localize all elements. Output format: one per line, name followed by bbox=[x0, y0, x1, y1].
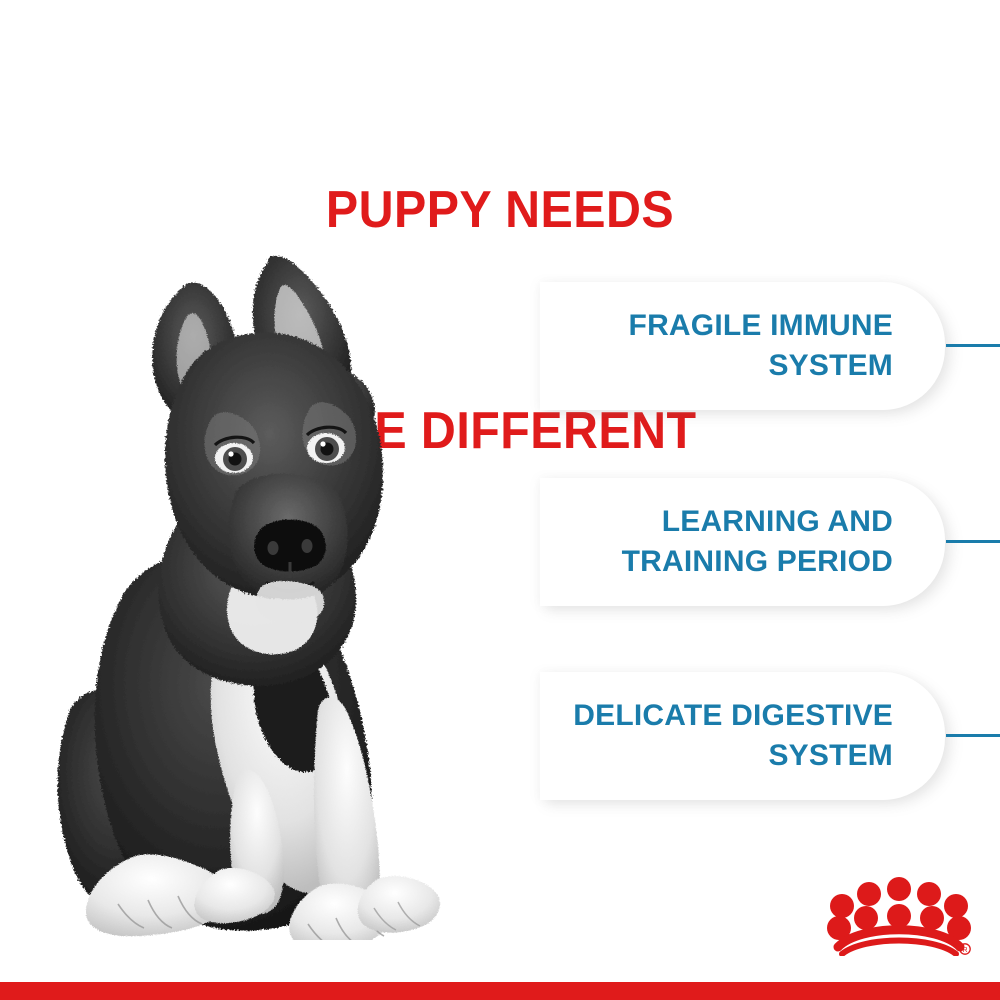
puppy-photo bbox=[30, 240, 480, 940]
benefit-connector-line-2 bbox=[946, 540, 1000, 543]
royal-canin-crown-logo: R bbox=[824, 876, 974, 956]
bottom-red-bar bbox=[0, 982, 1000, 1000]
benefit-connector-line-3 bbox=[946, 734, 1000, 737]
benefit-card-fragile-immune-system[interactable]: FRAGILE IMMUNE SYSTEM bbox=[540, 282, 945, 410]
benefit-label: FRAGILE IMMUNE SYSTEM bbox=[629, 306, 893, 385]
puppy-body-group bbox=[58, 256, 440, 940]
svg-text:R: R bbox=[962, 947, 967, 954]
page-title-line-1: PUPPY NEEDS bbox=[35, 174, 965, 248]
benefit-connector-line-1 bbox=[946, 344, 1000, 347]
benefit-label: DELICATE DIGESTIVE SYSTEM bbox=[573, 696, 893, 775]
benefit-card-learning-and-training-period[interactable]: LEARNING AND TRAINING PERIOD bbox=[540, 478, 945, 606]
product-feature-panel: PUPPY NEEDS ARE DIFFERENT bbox=[0, 0, 1000, 1000]
crown-arcs bbox=[838, 930, 960, 954]
benefit-card-delicate-digestive-system[interactable]: DELICATE DIGESTIVE SYSTEM bbox=[540, 672, 945, 800]
benefit-label: LEARNING AND TRAINING PERIOD bbox=[622, 502, 893, 581]
